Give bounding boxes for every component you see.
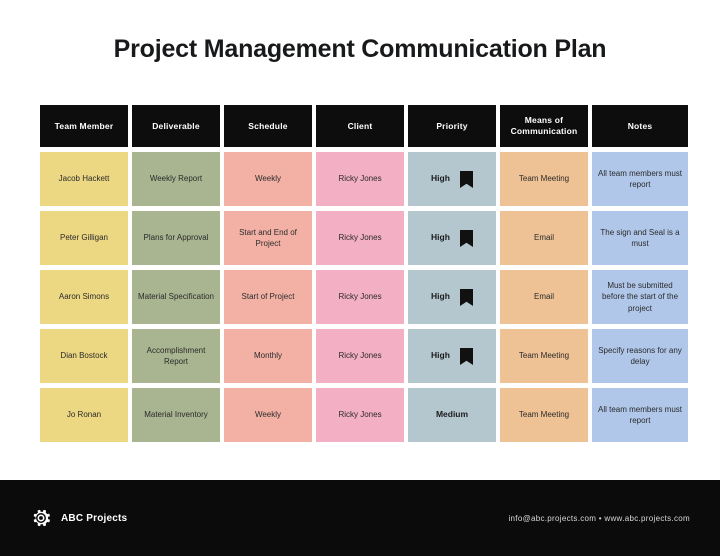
priority-content: High (413, 230, 491, 247)
bookmark-flag-icon (460, 230, 473, 247)
column-header-schedule: Schedule (224, 105, 312, 147)
cell-deliverable: Material Inventory (132, 388, 220, 442)
header-row: Team Member Deliverable Schedule Client … (40, 105, 688, 147)
cell-client: Ricky Jones (316, 329, 404, 383)
cell-deliverable: Material Specification (132, 270, 220, 324)
cell-client: Ricky Jones (316, 211, 404, 265)
communication-plan-table-wrap: Team Member Deliverable Schedule Client … (0, 100, 720, 447)
table-header: Team Member Deliverable Schedule Client … (40, 105, 688, 147)
cell-team-member: Dian Bostock (40, 329, 128, 383)
cell-schedule: Start of Project (224, 270, 312, 324)
cell-schedule: Monthly (224, 329, 312, 383)
cell-priority: High (408, 270, 496, 324)
footer-bar: ABC Projects info@abc.projects.com • www… (0, 480, 720, 556)
priority-label: High (431, 232, 450, 244)
cell-deliverable: Plans for Approval (132, 211, 220, 265)
cell-means-of-communication: Team Meeting (500, 388, 588, 442)
cell-deliverable: Accomplishment Report (132, 329, 220, 383)
cell-notes: Must be submitted before the start of th… (592, 270, 688, 324)
infographic-page: Project Management Communication Plan Te… (0, 0, 720, 556)
brand-name: ABC Projects (61, 513, 127, 524)
cell-priority: High (408, 329, 496, 383)
cell-schedule: Weekly (224, 152, 312, 206)
cell-notes: The sign and Seal is a must (592, 211, 688, 265)
table-row: Jo RonanMaterial InventoryWeeklyRicky Jo… (40, 388, 688, 442)
cell-team-member: Jo Ronan (40, 388, 128, 442)
cell-priority: Medium (408, 388, 496, 442)
cell-schedule: Weekly (224, 388, 312, 442)
column-header-priority: Priority (408, 105, 496, 147)
column-header-client: Client (316, 105, 404, 147)
priority-content: High (413, 348, 491, 365)
table-row: Dian BostockAccomplishment ReportMonthly… (40, 329, 688, 383)
footer-contact: info@abc.projects.com • www.abc.projects… (508, 514, 690, 523)
communication-plan-table: Team Member Deliverable Schedule Client … (36, 100, 692, 447)
cell-team-member: Peter Gilligan (40, 211, 128, 265)
cell-team-member: Jacob Hackett (40, 152, 128, 206)
gear-icon (30, 507, 52, 529)
priority-label: High (431, 173, 450, 185)
column-header-team-member: Team Member (40, 105, 128, 147)
cell-priority: High (408, 211, 496, 265)
cell-client: Ricky Jones (316, 152, 404, 206)
bookmark-flag-icon (460, 171, 473, 188)
priority-label: Medium (436, 409, 468, 421)
cell-deliverable: Weekly Report (132, 152, 220, 206)
table-row: Peter GilliganPlans for ApprovalStart an… (40, 211, 688, 265)
cell-means-of-communication: Email (500, 270, 588, 324)
cell-notes: Specify reasons for any delay (592, 329, 688, 383)
cell-schedule: Start and End of Project (224, 211, 312, 265)
cell-means-of-communication: Team Meeting (500, 329, 588, 383)
column-header-means-of-communication: Means of Communication (500, 105, 588, 147)
cell-client: Ricky Jones (316, 270, 404, 324)
priority-label: High (431, 291, 450, 303)
brand: ABC Projects (30, 507, 127, 529)
cell-notes: All team members must report (592, 152, 688, 206)
table-row: Aaron SimonsMaterial SpecificationStart … (40, 270, 688, 324)
cell-client: Ricky Jones (316, 388, 404, 442)
table-body: Jacob HackettWeekly ReportWeeklyRicky Jo… (40, 152, 688, 442)
table-row: Jacob HackettWeekly ReportWeeklyRicky Jo… (40, 152, 688, 206)
priority-content: High (413, 289, 491, 306)
cell-priority: High (408, 152, 496, 206)
cell-means-of-communication: Team Meeting (500, 152, 588, 206)
bookmark-flag-icon (460, 289, 473, 306)
cell-means-of-communication: Email (500, 211, 588, 265)
column-header-deliverable: Deliverable (132, 105, 220, 147)
title-area: Project Management Communication Plan (0, 0, 720, 100)
priority-content: High (413, 171, 491, 188)
cell-notes: All team members must report (592, 388, 688, 442)
page-title: Project Management Communication Plan (114, 36, 607, 64)
bookmark-flag-icon (460, 348, 473, 365)
cell-team-member: Aaron Simons (40, 270, 128, 324)
priority-label: High (431, 350, 450, 362)
priority-content: Medium (413, 409, 491, 421)
column-header-notes: Notes (592, 105, 688, 147)
